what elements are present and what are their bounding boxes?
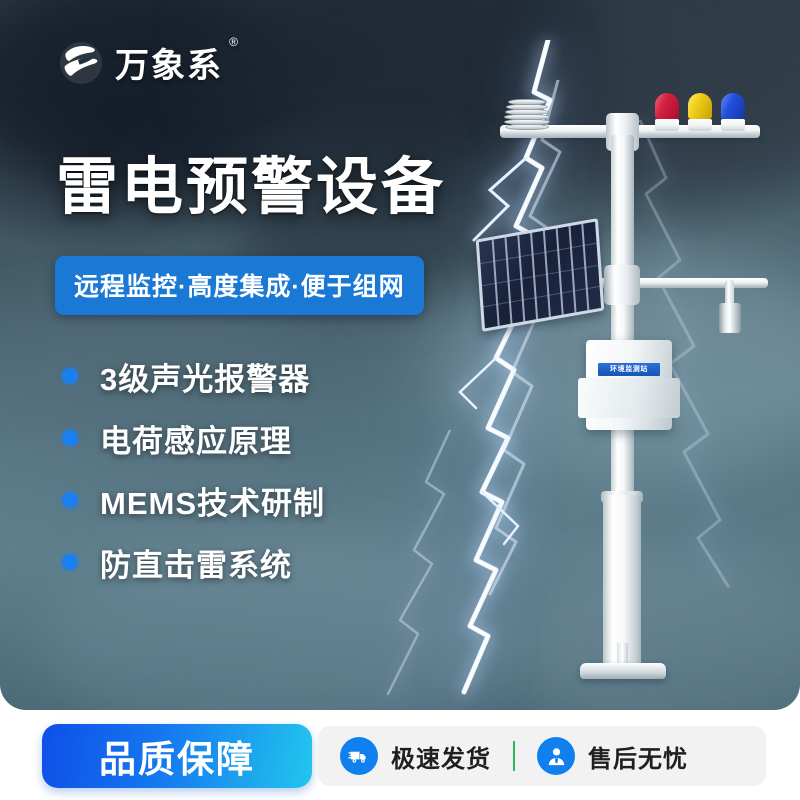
hero-badge: 远程监控·高度集成·便于组网 [55, 256, 424, 315]
bullet-dot-icon [62, 492, 78, 508]
service-fast-shipping[interactable]: 极速发货 [318, 737, 513, 775]
control-box-label: 环境监测站 [598, 363, 660, 376]
globe-sphere-icon [58, 40, 104, 86]
radiation-shield [504, 99, 548, 129]
bullet-dot-icon [62, 430, 78, 446]
feature-label: 3级声光报警器 [100, 354, 310, 399]
feature-item: 电荷感应原理 [62, 407, 442, 469]
solar-panel [476, 218, 605, 332]
alarm-beacon-blue [721, 93, 745, 131]
delivery-truck-icon [340, 737, 378, 775]
sensor-probe [719, 303, 741, 333]
mast-pole-upper [611, 135, 634, 510]
feature-item: 3级声光报警器 [62, 345, 442, 407]
feature-list: 3级声光报警器 电荷感应原理 MEMS技术研制 防直击雷系统 [62, 345, 442, 593]
service-after-sales[interactable]: 售后无忧 [515, 737, 710, 775]
footer-bar: 品质保障 极速发货 [0, 712, 800, 800]
weather-station-device: 环境监测站 [470, 95, 790, 695]
feature-item: MEMS技术研制 [62, 469, 442, 531]
alarm-beacon-red [655, 93, 679, 131]
control-box-wing [578, 378, 680, 418]
service-label: 售后无忧 [588, 739, 688, 774]
quality-guarantee-badge[interactable]: 品质保障 [42, 724, 312, 788]
bullet-dot-icon [62, 554, 78, 570]
storm-background: 环境监测站 万象系 ® 雷电预警设 [0, 0, 800, 710]
feature-label: 防直击雷系统 [100, 540, 292, 585]
product-poster: 环境监测站 万象系 ® 雷电预警设 [0, 0, 800, 800]
service-highlights: 极速发货 售后无忧 [318, 726, 766, 786]
alarm-beacon-yellow [688, 93, 712, 131]
page-title: 雷电预警设备 [56, 157, 446, 219]
quality-guarantee-label: 品质保障 [99, 729, 255, 783]
service-label: 极速发货 [391, 739, 491, 774]
brand-name: 万象系 ® [115, 38, 223, 87]
base-plate [580, 663, 666, 679]
mast-hub-lower [604, 265, 640, 305]
feature-label: 电荷感应原理 [100, 416, 292, 461]
brand-name-text: 万象系 [115, 47, 223, 85]
trademark-symbol: ® [229, 35, 240, 49]
feature-label: MEMS技术研制 [100, 478, 325, 523]
customer-service-person-icon [537, 737, 575, 775]
brand-logo: 万象系 ® [58, 38, 223, 87]
bullet-dot-icon [62, 368, 78, 384]
feature-item: 防直击雷系统 [62, 531, 442, 593]
